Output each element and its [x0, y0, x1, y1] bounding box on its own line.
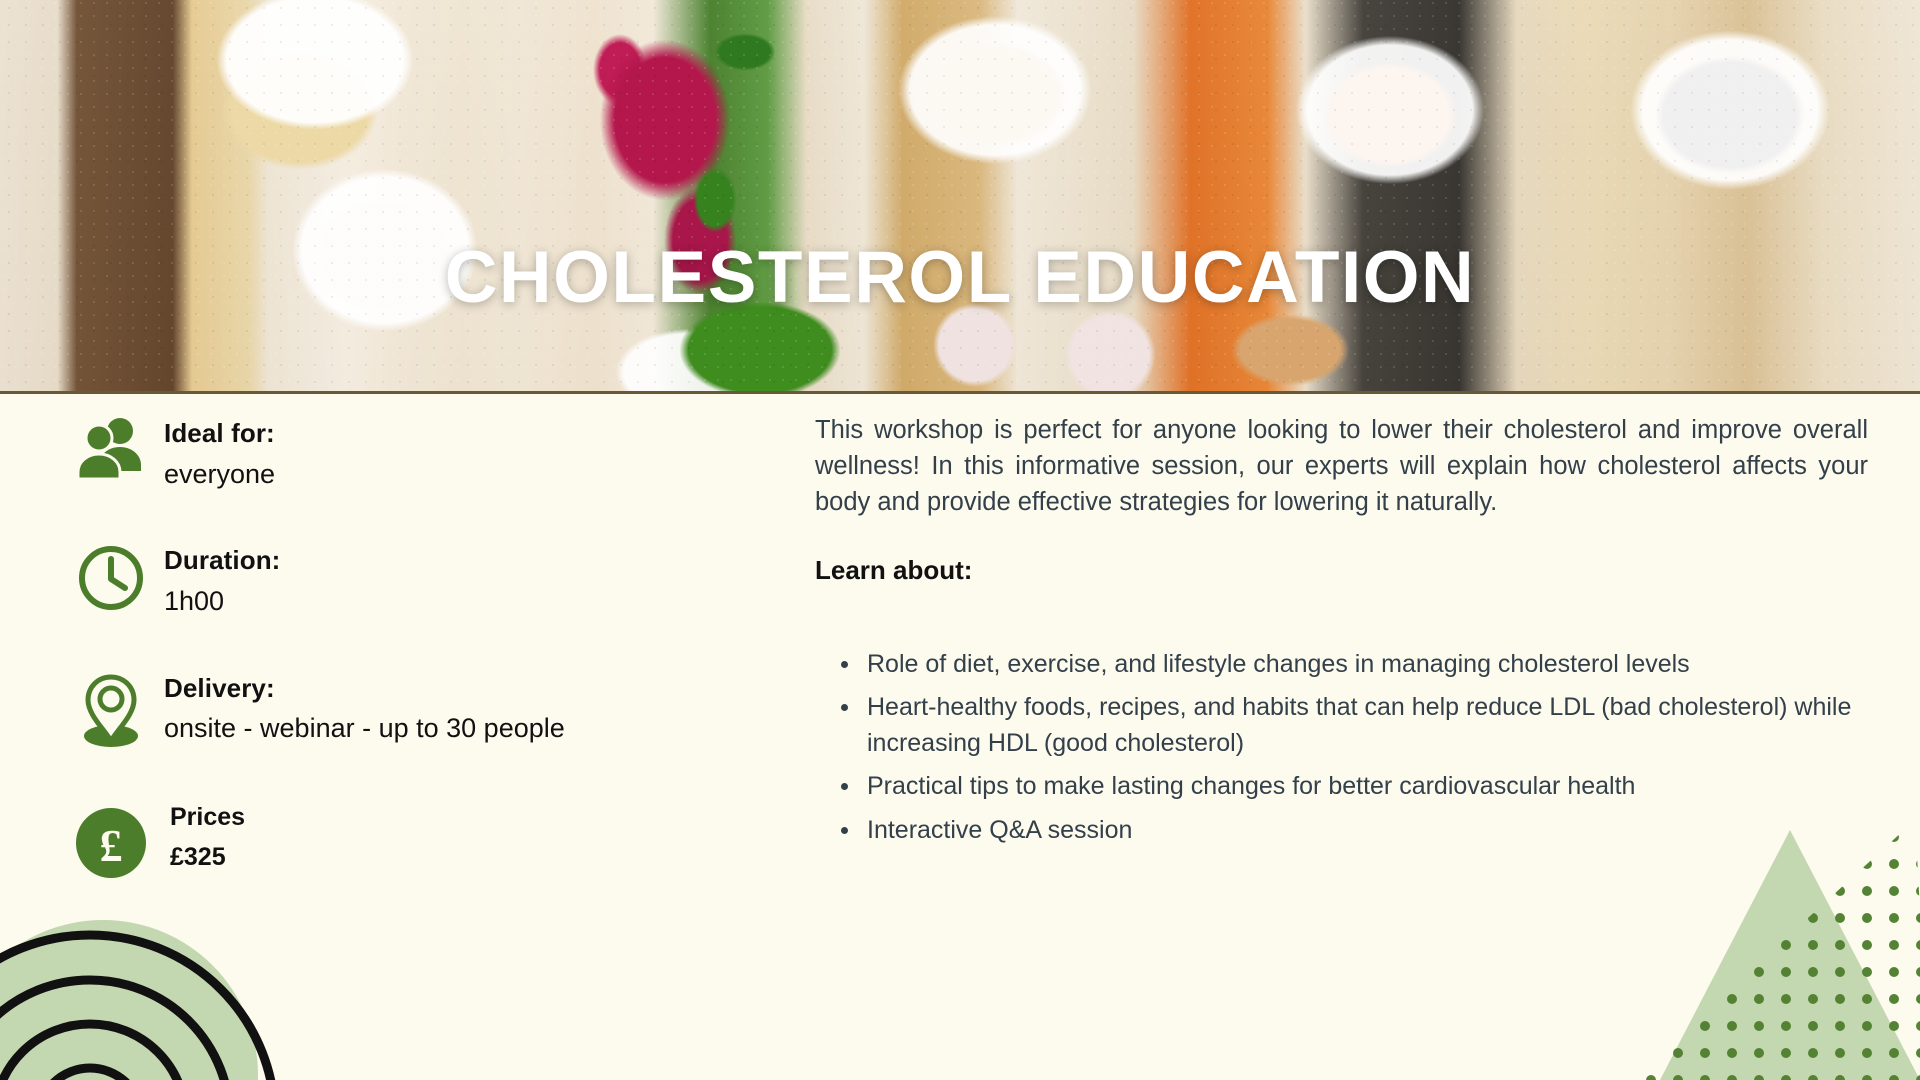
pound-coin-icon: £ — [72, 801, 150, 881]
description-column: This workshop is perfect for anyone look… — [815, 412, 1868, 855]
detail-row-duration: Duration: 1h00 — [72, 543, 762, 618]
price-value: £325 — [170, 843, 245, 872]
details-column: Ideal for: everyone Duration: 1h00 — [72, 416, 762, 933]
hero-banner: CHOLESTEROL EDUCATION — [0, 0, 1920, 394]
intro-paragraph: This workshop is perfect for anyone look… — [815, 412, 1868, 521]
list-item: Heart-healthy foods, recipes, and habits… — [815, 689, 1868, 762]
detail-value: onsite - webinar - up to 30 people — [164, 711, 565, 746]
detail-label: Delivery: — [164, 673, 565, 705]
list-item: Interactive Q&A session — [815, 812, 1868, 848]
detail-label: Duration: — [164, 545, 280, 577]
price-label: Prices — [170, 803, 245, 832]
detail-row-delivery: Delivery: onsite - webinar - up to 30 pe… — [72, 671, 762, 749]
learn-about-heading: Learn about: — [815, 555, 1868, 586]
detail-value: 1h00 — [164, 584, 280, 619]
content-area: Ideal for: everyone Duration: 1h00 — [0, 394, 1920, 1080]
location-pin-icon — [72, 671, 150, 749]
detail-value: everyone — [164, 457, 275, 492]
detail-row-prices: £ Prices £325 — [72, 801, 762, 881]
list-item: Role of diet, exercise, and lifestyle ch… — [815, 646, 1868, 682]
decorative-dot-pattern — [1590, 830, 1920, 1080]
list-item: Practical tips to make lasting changes f… — [815, 768, 1868, 804]
clock-icon — [72, 543, 150, 613]
page-title: CHOLESTEROL EDUCATION — [0, 236, 1920, 319]
detail-label: Ideal for: — [164, 418, 275, 450]
detail-row-ideal-for: Ideal for: everyone — [72, 416, 762, 491]
learn-about-list: Role of diet, exercise, and lifestyle ch… — [815, 646, 1868, 848]
svg-text:£: £ — [100, 820, 123, 871]
hero-food-photo — [0, 0, 1920, 394]
people-icon — [72, 416, 150, 480]
